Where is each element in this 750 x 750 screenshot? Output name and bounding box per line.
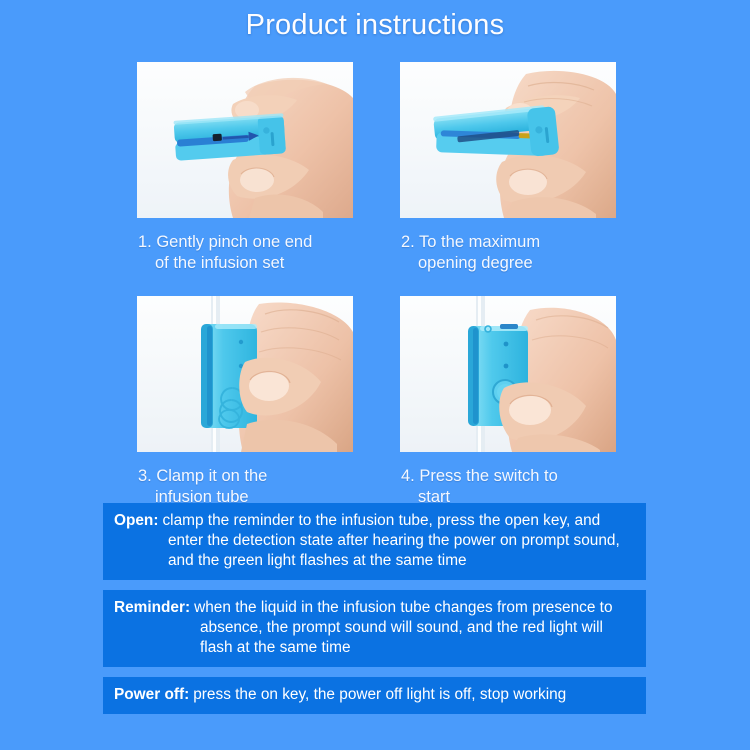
panel-reminder: Reminder:when the liquid in the infusion…	[103, 590, 646, 667]
panel-power-off-label: Power off:	[114, 686, 193, 703]
panel-open-body: Open:clamp the reminder to the infusion …	[114, 511, 635, 571]
panel-power-off-text: press the on key, the power off light is…	[193, 686, 566, 703]
photo-press-switch-to-start	[400, 296, 616, 452]
step-2-caption-line1: 2. To the maximum	[401, 233, 540, 251]
step-2-caption-line2: opening degree	[401, 253, 616, 274]
panel-reminder-label: Reminder:	[114, 599, 194, 616]
panel-reminder-body: Reminder:when the liquid in the infusion…	[114, 598, 635, 658]
step-1-caption-line1: 1. Gently pinch one end	[138, 233, 312, 251]
step-4-caption: 4. Press the switch to start	[400, 466, 616, 508]
panel-reminder-text: when the liquid in the infusion tube cha…	[194, 599, 612, 656]
steps-grid: 1. Gently pinch one end of the infusion …	[137, 62, 616, 508]
photo-clamp-on-infusion-tube	[137, 296, 353, 452]
photo-pinch-infusion-set	[137, 62, 353, 218]
step-3: 3. Clamp it on the infusion tube	[137, 296, 353, 508]
panel-power-off-body: Power off:press the on key, the power of…	[114, 685, 635, 705]
info-panels: Open:clamp the reminder to the infusion …	[103, 503, 646, 724]
step-2: 2. To the maximum opening degree	[400, 62, 616, 274]
step-3-caption-line1: 3. Clamp it on the	[138, 467, 267, 485]
step-4: 4. Press the switch to start	[400, 296, 616, 508]
step-1: 1. Gently pinch one end of the infusion …	[137, 62, 353, 274]
step-2-caption: 2. To the maximum opening degree	[400, 232, 616, 274]
steps-row-top: 1. Gently pinch one end of the infusion …	[137, 62, 616, 274]
panel-open: Open:clamp the reminder to the infusion …	[103, 503, 646, 580]
step-1-caption-line2: of the infusion set	[138, 253, 353, 274]
steps-row-bottom: 3. Clamp it on the infusion tube	[137, 296, 616, 508]
panel-open-text: clamp the reminder to the infusion tube,…	[162, 512, 619, 569]
step-1-caption: 1. Gently pinch one end of the infusion …	[137, 232, 353, 274]
step-4-caption-line1: 4. Press the switch to	[401, 467, 558, 485]
panel-open-label: Open:	[114, 512, 162, 529]
page-title: Product instructions	[0, 9, 750, 42]
photo-maximum-opening-degree	[400, 62, 616, 218]
panel-power-off: Power off:press the on key, the power of…	[103, 677, 646, 714]
step-3-caption: 3. Clamp it on the infusion tube	[137, 466, 353, 508]
